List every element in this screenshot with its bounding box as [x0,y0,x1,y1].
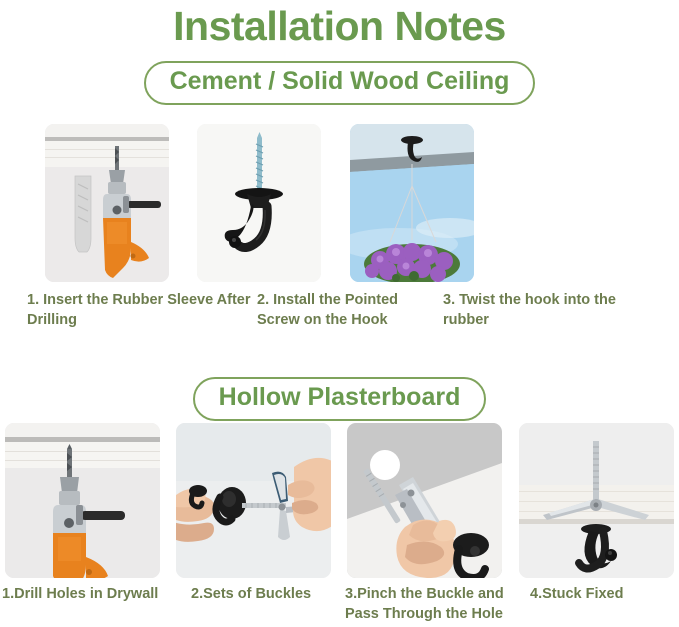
step-caption-2: 2. Install the Pointed Screw on the Hook [257,291,437,330]
page-title: Installation Notes [0,0,679,47]
step-image-drill-into-ceiling-with-rubber-sleeve [45,124,169,282]
step-image-toggle-anchor-spread-with-hook-below [519,423,674,578]
step-caption-6: 2.Sets of Buckles [191,585,351,605]
section-heading-cement-row: Cement / Solid Wood Ceiling [0,47,679,105]
section-heading-cement: Cement / Solid Wood Ceiling [144,61,536,105]
step-image-hands-holding-hook-and-toggle-bolt [176,423,331,578]
step-caption-5: 1.Drill Holes in Drywall [2,585,177,605]
hollow-steps-images [0,423,679,578]
step-caption-8: 4.Stuck Fixed [530,585,679,605]
step-caption-3: 3. Twist the hook into the rubber [443,291,643,330]
cement-steps-captions: 1. Insert the Rubber Sleeve After Drilli… [0,291,679,337]
step-caption-1: 1. Insert the Rubber Sleeve After Drilli… [27,291,252,330]
step-image-drill-into-drywall-ceiling [5,423,160,578]
step-caption-7: 3.Pinch the Buckle and Pass Through the … [345,585,520,624]
section-heading-hollow-plasterboard: Hollow Plasterboard [193,377,487,421]
step-image-hook-in-ceiling-with-hanging-flower-basket [350,124,474,282]
hollow-steps-captions: 1.Drill Holes in Drywall 2.Sets of Buckl… [0,585,679,627]
cement-steps-images [0,124,679,282]
step-image-black-ceiling-hook-with-pointed-screw [197,124,321,282]
step-image-hand-pinching-toggle-wings-into-hole [347,423,502,578]
section-heading-hollow-row: Hollow Plasterboard [0,357,679,421]
